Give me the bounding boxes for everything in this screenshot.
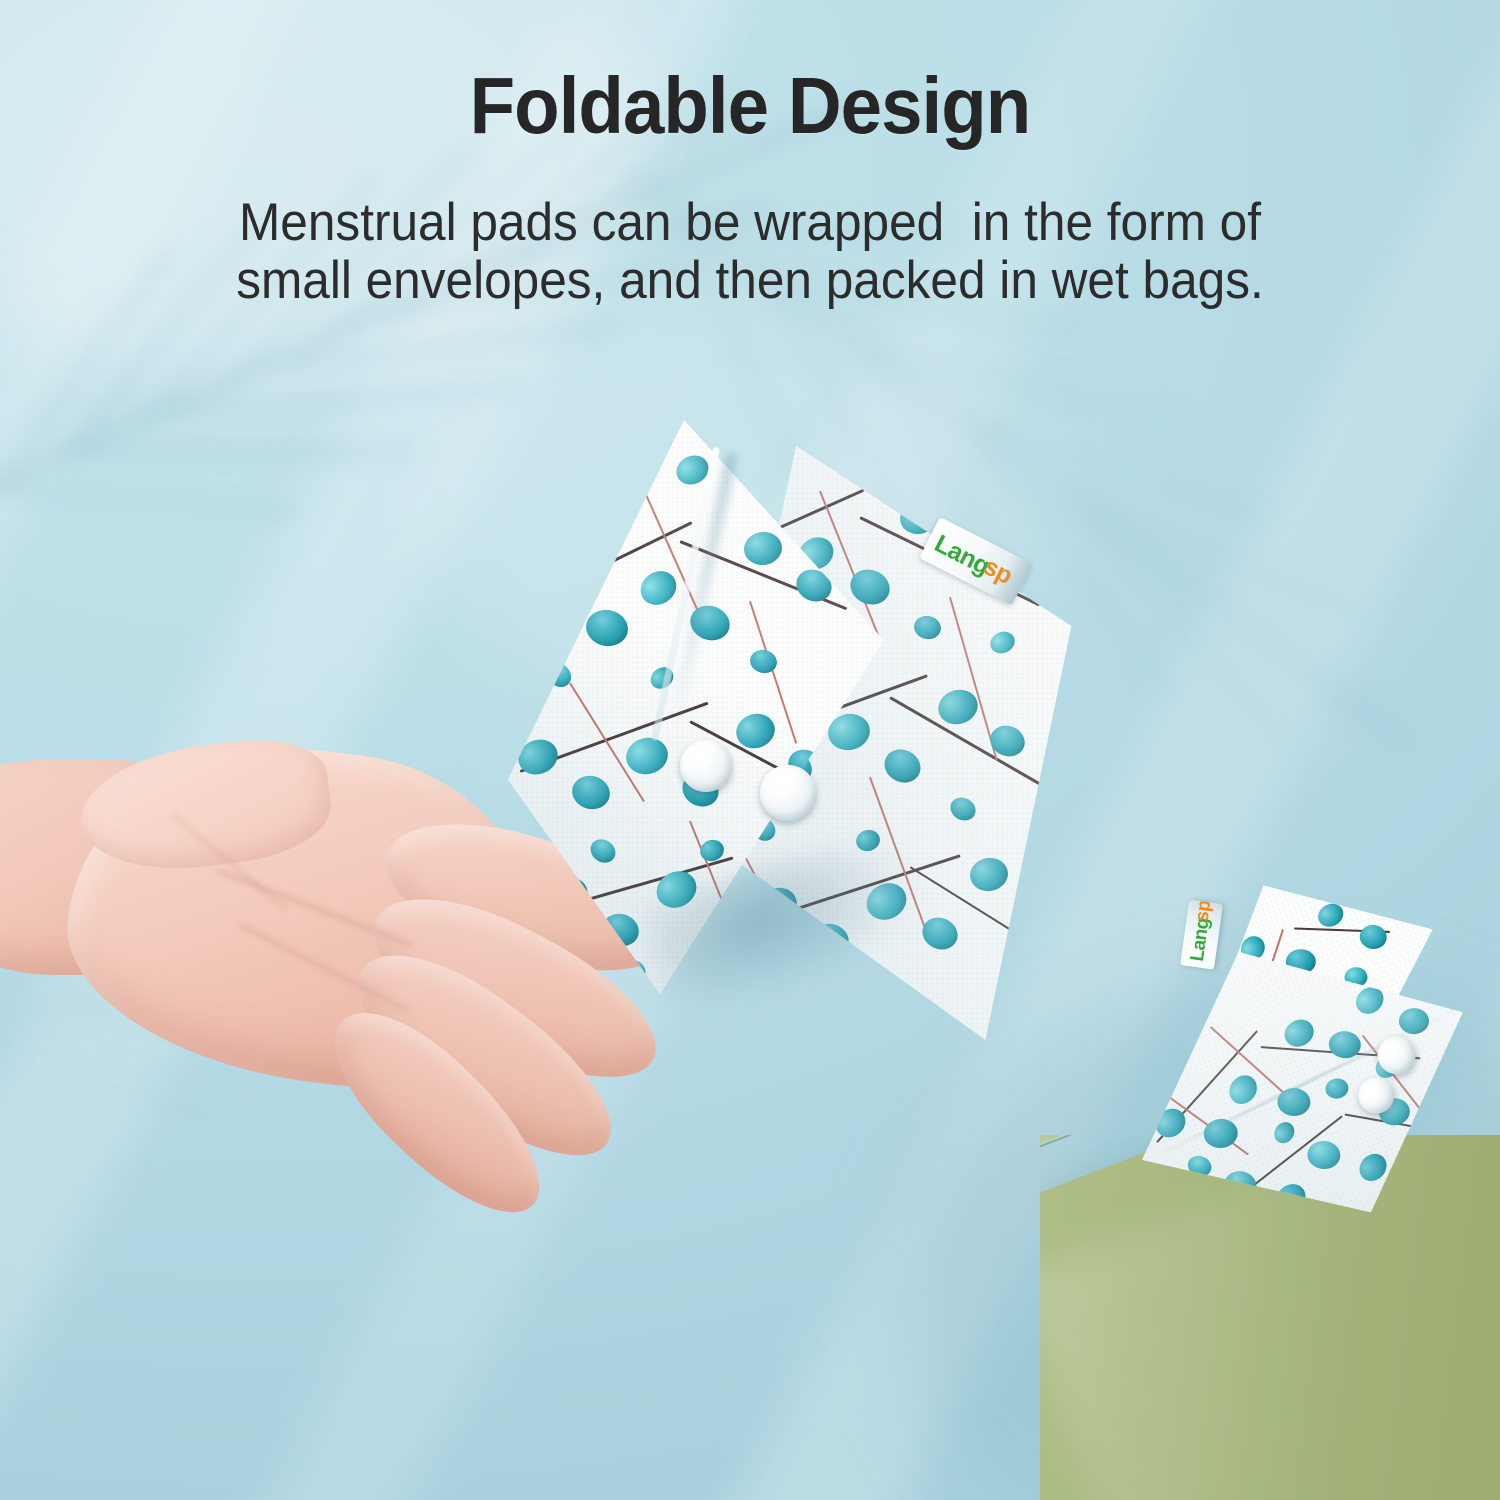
snap-button-main-1[interactable] bbox=[680, 740, 732, 792]
folded-pad-main: Lang sp bbox=[500, 420, 1120, 1080]
subtitle-line-1: Menstrual pads can be wrapped in the for… bbox=[49, 194, 1452, 252]
product-feature-image: Foldable Design Menstrual pads can be wr… bbox=[0, 0, 1500, 1500]
brand-label-text-accent-secondary: sp bbox=[1191, 899, 1216, 923]
page-title: Foldable Design bbox=[53, 66, 1448, 146]
snap-button-main-2[interactable] bbox=[760, 765, 816, 821]
subtitle-line-2: small envelopes, and then packed in wet … bbox=[49, 252, 1452, 310]
brand-label-text-green-secondary: Lang bbox=[1187, 917, 1215, 963]
